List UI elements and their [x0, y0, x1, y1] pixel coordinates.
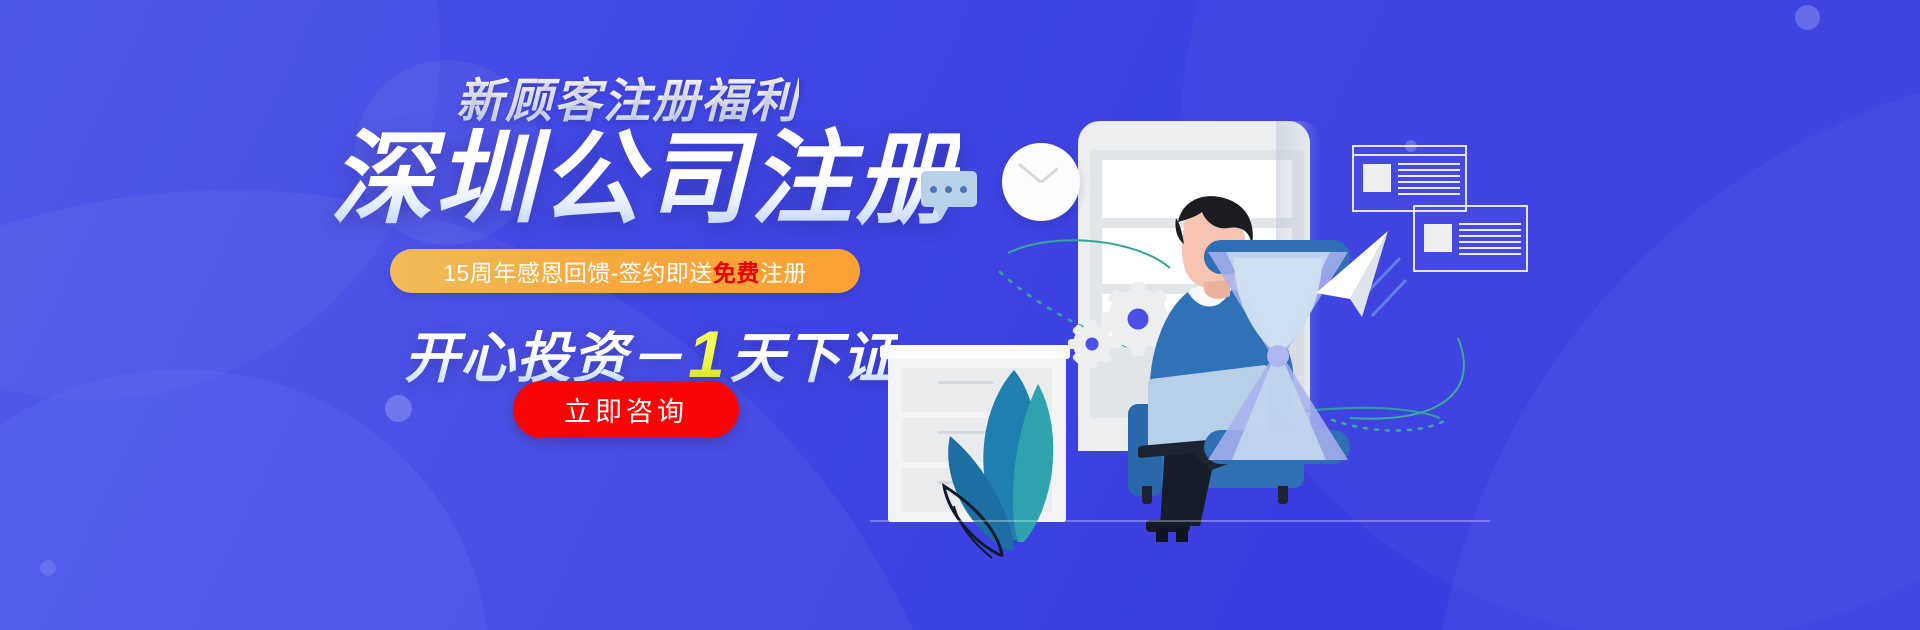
- card-text-lines: [1459, 223, 1521, 259]
- promo-pill-trail: 注册: [760, 254, 807, 288]
- card-thumbnail: [1363, 164, 1391, 192]
- promo-banner: 新顾客注册福利 深圳公司注册 15周年感恩回馈-签约即送免费注册 开心投资－1天…: [0, 0, 1920, 630]
- consult-now-button[interactable]: 立即咨询: [513, 381, 739, 438]
- paper-plane-icon: [1310, 225, 1420, 335]
- kicker-text: 新顾客注册福利: [456, 62, 799, 131]
- document-card-icon: [1413, 205, 1528, 272]
- promo-pill: 15周年感恩回馈-签约即送免费注册: [390, 249, 860, 293]
- banner-copy-block: 新顾客注册福利 深圳公司注册 15周年感恩回馈-签约即送免费注册 开心投资－1天…: [0, 0, 960, 630]
- promo-pill-lead: 15周年感恩回馈-签约即送: [443, 254, 713, 288]
- subline-after: 天下证: [730, 313, 898, 393]
- headline-text: 深圳公司注册: [330, 126, 960, 233]
- card-thumbnail: [1424, 224, 1452, 252]
- card-title-bar: [1354, 147, 1465, 156]
- promo-pill-highlight: 免费: [713, 254, 760, 288]
- illustration: [880, 0, 1920, 630]
- card-text-lines: [1398, 163, 1460, 199]
- document-card-icon: [1352, 145, 1467, 212]
- floor-line: [870, 520, 1490, 522]
